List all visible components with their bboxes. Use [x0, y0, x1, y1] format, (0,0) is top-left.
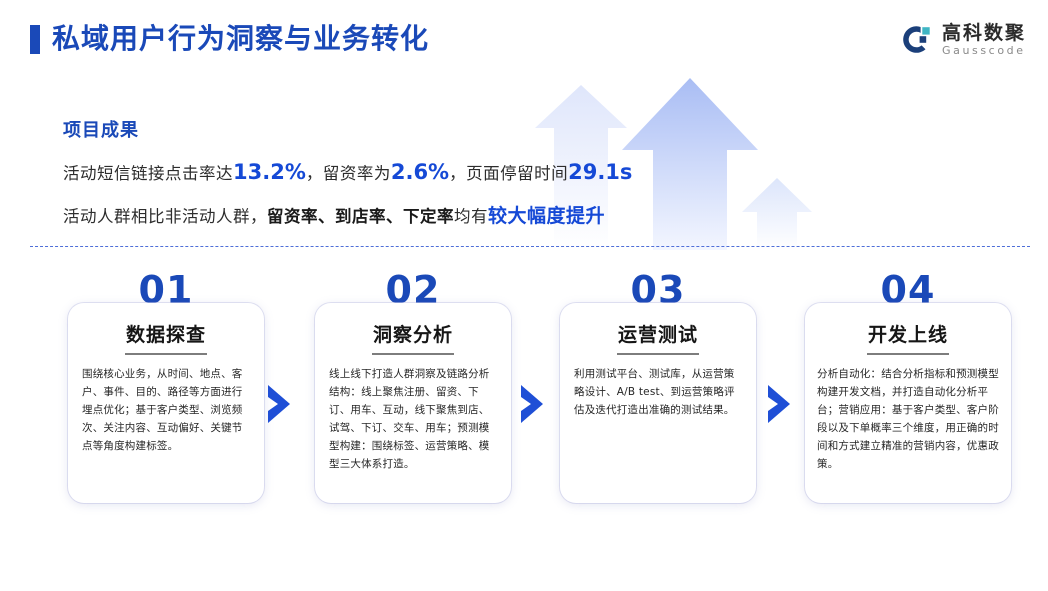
- step-card-01[interactable]: 01 数据探查 围绕核心业务，从时间、地点、客户、事件、目的、路径等方面进行埋点…: [68, 303, 264, 503]
- step-body-03: 利用测试平台、测试库，从运营策略设计、A/B test、到运营策略评估及迭代打造…: [574, 365, 742, 419]
- step-title-01: 数据探查: [68, 320, 264, 347]
- step-title-rule-04: [867, 353, 949, 355]
- step-title-rule-02: [372, 353, 454, 355]
- step-card-04[interactable]: 04 开发上线 分析自动化：结合分析指标和预测模型构建开发文档，并打造自动化分析…: [805, 303, 1011, 503]
- step-card-surface-02: 洞察分析 线上线下打造人群洞察及链路分析结构：线上聚焦注册、留资、下订、用车、互…: [315, 303, 511, 503]
- step-title-03: 运营测试: [560, 320, 756, 347]
- step-body-04: 分析自动化：结合分析指标和预测模型构建开发文档，并打造自动化分析平台；营销应用：…: [817, 365, 999, 473]
- step-title-02: 洞察分析: [315, 320, 511, 347]
- step-title-rule-01: [125, 353, 207, 355]
- chevron-right-icon-1: [266, 385, 292, 423]
- step-card-surface-01: 数据探查 围绕核心业务，从时间、地点、客户、事件、目的、路径等方面进行埋点优化；…: [68, 303, 264, 503]
- chevron-right-icon-2: [519, 385, 545, 423]
- slide-root: 私域用户行为洞察与业务转化 高科数聚 Gausscode 项目成果 活动短信链接…: [0, 0, 1048, 591]
- step-card-surface-04: 开发上线 分析自动化：结合分析指标和预测模型构建开发文档，并打造自动化分析平台；…: [805, 303, 1011, 503]
- step-card-surface-03: 运营测试 利用测试平台、测试库，从运营策略设计、A/B test、到运营策略评估…: [560, 303, 756, 503]
- step-title-04: 开发上线: [805, 320, 1011, 347]
- step-title-rule-03: [617, 353, 699, 355]
- step-body-02: 线上线下打造人群洞察及链路分析结构：线上聚焦注册、留资、下订、用车、互动，线下聚…: [329, 365, 497, 473]
- process-steps: 01 数据探查 围绕核心业务，从时间、地点、客户、事件、目的、路径等方面进行埋点…: [0, 0, 1048, 591]
- step-card-03[interactable]: 03 运营测试 利用测试平台、测试库，从运营策略设计、A/B test、到运营策…: [560, 303, 756, 503]
- chevron-right-icon-3: [766, 385, 792, 423]
- step-card-02[interactable]: 02 洞察分析 线上线下打造人群洞察及链路分析结构：线上聚焦注册、留资、下订、用…: [315, 303, 511, 503]
- step-body-01: 围绕核心业务，从时间、地点、客户、事件、目的、路径等方面进行埋点优化；基于客户类…: [82, 365, 250, 455]
